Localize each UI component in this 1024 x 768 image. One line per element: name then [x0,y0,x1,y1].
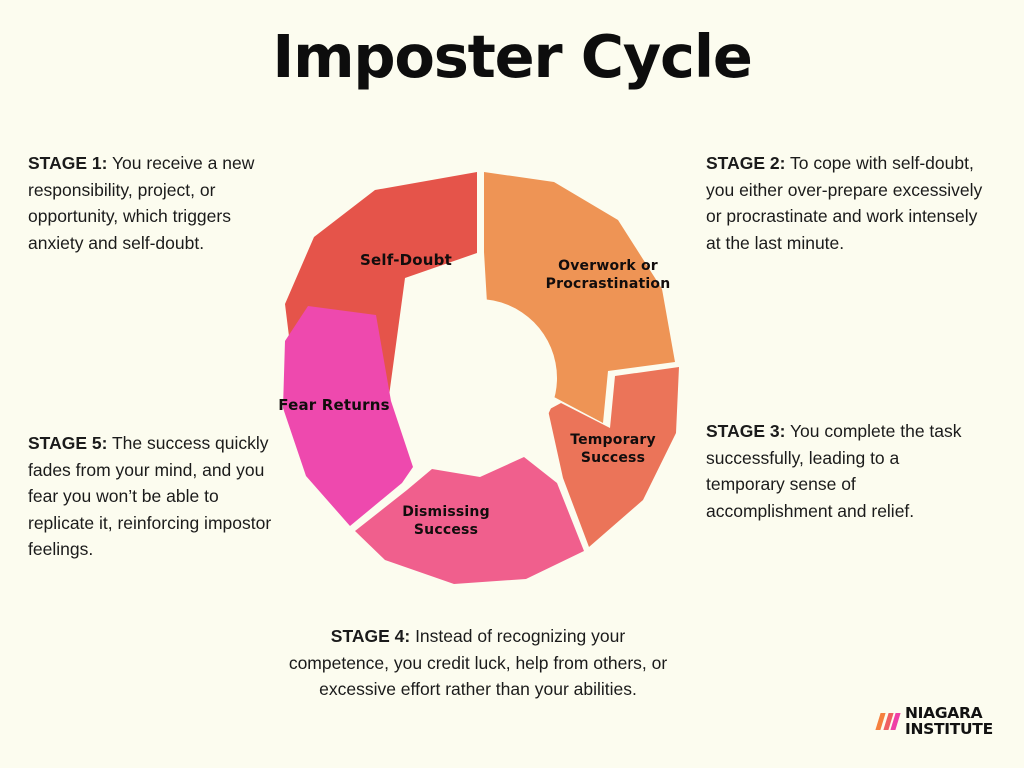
cycle-label-overwork-line1: Overwork or [558,258,658,274]
cycle-label-dismissing-line1: Dismissing [402,504,490,520]
stage-3-heading: STAGE 3: [706,421,785,441]
niagara-institute-logo: NIAGARA INSTITUTE [878,706,993,738]
logo-line-2: INSTITUTE [905,722,993,738]
cycle-donut-svg: Self-Doubt Overwork or Procrastination T… [258,158,698,598]
stage-4-heading: STAGE 4: [331,626,410,646]
stage-2-description: STAGE 2: To cope with self-doubt, you ei… [706,150,991,256]
cycle-label-temporary-line1: Temporary [570,432,656,448]
stage-2-heading: STAGE 2: [706,153,785,173]
page-title: Imposter Cycle [0,22,1024,91]
stage-5-description: STAGE 5: The success quickly fades from … [28,430,273,563]
stage-1-description: STAGE 1: You receive a new responsibilit… [28,150,284,256]
cycle-center-hole [399,299,557,457]
stage-4-description: STAGE 4: Instead of recognizing your com… [288,623,668,703]
cycle-label-self-doubt: Self-Doubt [360,251,452,269]
logo-slash-bars-icon [878,713,898,730]
imposter-cycle-diagram: Self-Doubt Overwork or Procrastination T… [258,158,698,598]
stage-1-heading: STAGE 1: [28,153,107,173]
stage-3-description: STAGE 3: You complete the task successfu… [706,418,981,524]
cycle-label-overwork-line2: Procrastination [546,276,671,292]
cycle-label-fear-returns: Fear Returns [278,396,390,414]
cycle-label-dismissing-line2: Success [414,522,478,538]
stage-5-heading: STAGE 5: [28,433,107,453]
cycle-label-temporary-line2: Success [581,450,645,466]
logo-wordmark: NIAGARA INSTITUTE [905,706,993,738]
